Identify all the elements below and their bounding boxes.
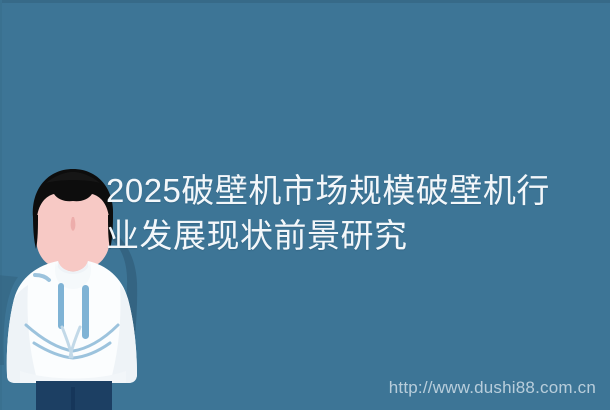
page-title: 2025破壁机市场规模破壁机行业发展现状前景研究 bbox=[106, 168, 576, 258]
article-banner: 2025破壁机市场规模破壁机行业发展现状前景研究 http://www.dush… bbox=[0, 0, 610, 410]
watermark-url: http://www.dushi88.com.cn bbox=[389, 378, 596, 398]
top-edge-divider bbox=[0, 0, 610, 3]
